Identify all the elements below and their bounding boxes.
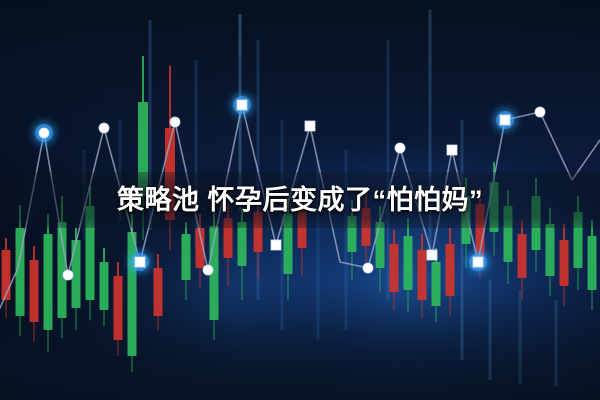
title-container: 策略池 怀孕后变成了“怕怕妈” (0, 172, 600, 228)
page-title: 策略池 怀孕后变成了“怕怕妈” (117, 187, 483, 214)
banner-image: 策略池 怀孕后变成了“怕怕妈” (0, 0, 600, 400)
